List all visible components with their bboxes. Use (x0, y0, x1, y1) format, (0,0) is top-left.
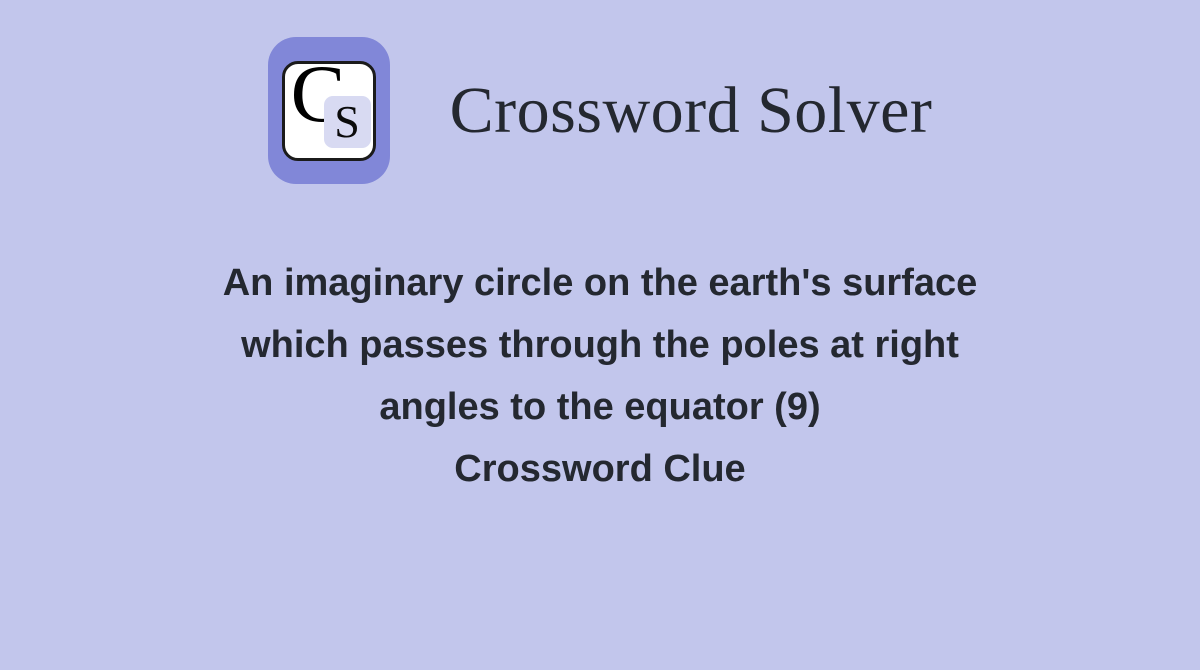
site-header: C S Crossword Solver (0, 28, 1200, 193)
page-root: C S Crossword Solver An imaginary circle… (0, 0, 1200, 670)
clue-text-line-2: which passes through the poles at right (95, 314, 1105, 376)
logo-inner-tile: C S (282, 61, 376, 161)
clue-suffix-label: Crossword Clue (95, 438, 1105, 500)
clue-text-line-3: angles to the equator (9) (95, 376, 1105, 438)
logo-letter-s: S (324, 98, 371, 146)
crossword-solver-logo-icon[interactable]: C S (268, 37, 390, 184)
clue-text-line-1: An imaginary circle on the earth's surfa… (95, 252, 1105, 314)
site-title[interactable]: Crossword Solver (450, 76, 933, 145)
logo-letter-s-tile: S (324, 96, 371, 148)
clue-heading: An imaginary circle on the earth's surfa… (95, 252, 1105, 500)
